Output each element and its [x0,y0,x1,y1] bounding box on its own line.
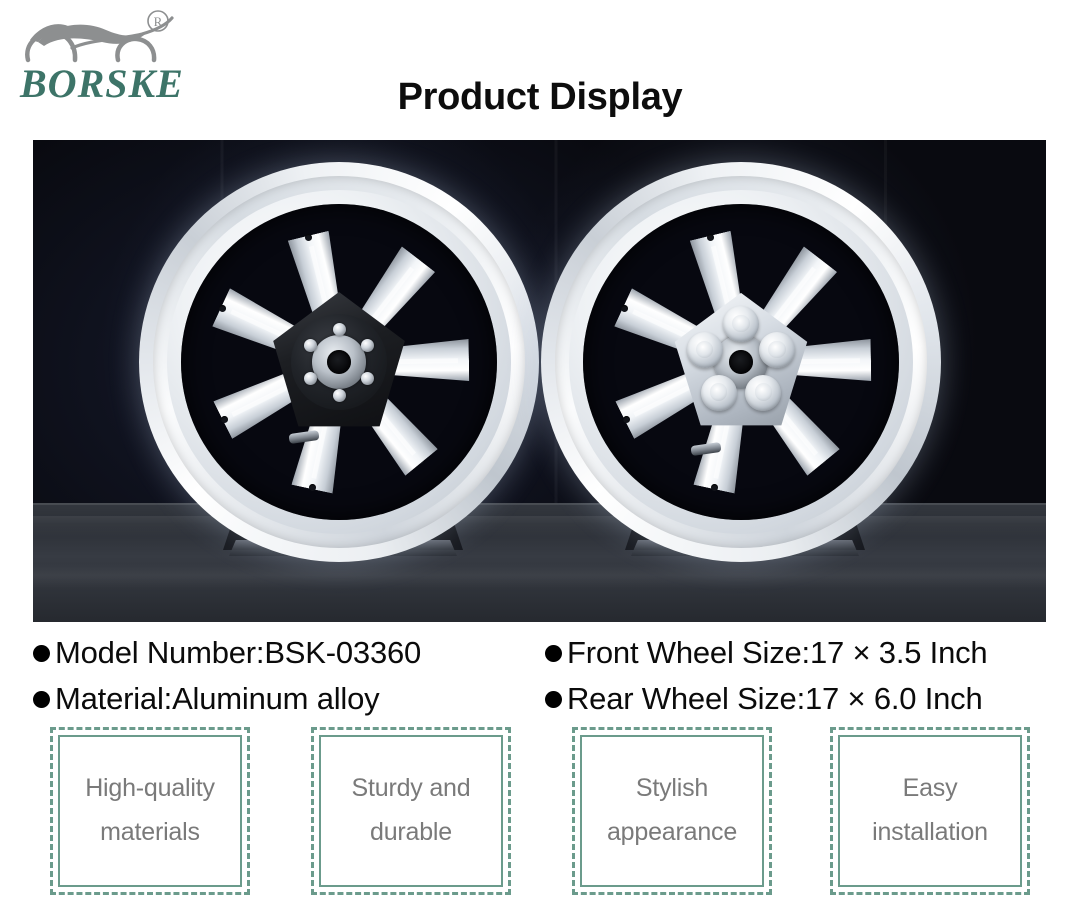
hub-bolt [304,372,317,385]
page-header: R BORSKE Product Display [0,0,1080,140]
bullet-icon [33,691,50,708]
spec-item-rear-wheel-size: Rear Wheel Size:17 × 6.0 Inch [545,676,987,722]
spec-column-right: Front Wheel Size:17 × 3.5 Inch Rear Whee… [545,630,987,722]
hub-bolt [361,339,374,352]
svg-text:R: R [154,14,163,29]
feature-label-line2: installation [872,818,988,846]
feature-badge-high-quality-materials: High-quality materials [50,727,250,895]
hub-bolt [333,389,346,402]
rim-hole [221,416,228,423]
bullet-icon [33,645,50,662]
spec-column-left: Model Number:BSK-03360 Material:Aluminum… [33,630,421,722]
bullet-icon [545,645,562,662]
front-wheel [139,162,539,562]
feature-label: Easy installation [872,767,988,855]
spec-text: Front Wheel Size:17 × 3.5 Inch [567,635,987,671]
front-wheel-hub [265,288,413,436]
front-wheel-body [139,162,539,562]
hub-bolt [361,372,374,385]
rim-hole [623,416,630,423]
feature-badge-easy-installation: Easy installation [830,727,1030,895]
rim-hole [711,484,718,491]
specification-list: Model Number:BSK-03360 Material:Aluminum… [33,630,1047,722]
feature-label: Stylish appearance [607,767,737,855]
rear-wheel-body [541,162,941,562]
feature-label-line1: Stylish [636,774,708,802]
rim-hole [309,484,316,491]
cush-drive-boss [701,375,737,411]
feature-label-line1: Easy [903,774,958,802]
cush-drive-boss [723,306,759,342]
front-hub-bearing [312,335,366,389]
spec-item-front-wheel-size: Front Wheel Size:17 × 3.5 Inch [545,630,987,676]
page-title: Product Display [0,76,1080,119]
feature-label: Sturdy and durable [352,767,471,855]
feature-label-line2: appearance [607,818,737,846]
feature-badges: High-quality materials Sturdy and durabl… [33,727,1047,897]
feature-label-line2: durable [370,818,452,846]
feature-label-line1: Sturdy and [352,774,471,802]
bullet-icon [545,691,562,708]
feature-label-line1: High-quality [85,774,215,802]
cush-drive-boss [745,375,781,411]
spec-text: Material:Aluminum alloy [55,681,379,717]
cush-drive-boss [687,332,723,368]
feature-label: High-quality materials [85,767,215,855]
hub-bolt [333,323,346,336]
spec-item-material: Material:Aluminum alloy [33,676,421,722]
spec-text: Rear Wheel Size:17 × 6.0 Inch [567,681,983,717]
product-photo [33,140,1046,622]
rear-wheel [541,162,941,562]
rear-wheel-hub [667,288,815,436]
feature-badge-stylish-appearance: Stylish appearance [572,727,772,895]
feature-badge-sturdy-and-durable: Sturdy and durable [311,727,511,895]
spec-text: Model Number:BSK-03360 [55,635,421,671]
hub-bolt [304,339,317,352]
spec-item-model-number: Model Number:BSK-03360 [33,630,421,676]
feature-label-line2: materials [100,818,200,846]
